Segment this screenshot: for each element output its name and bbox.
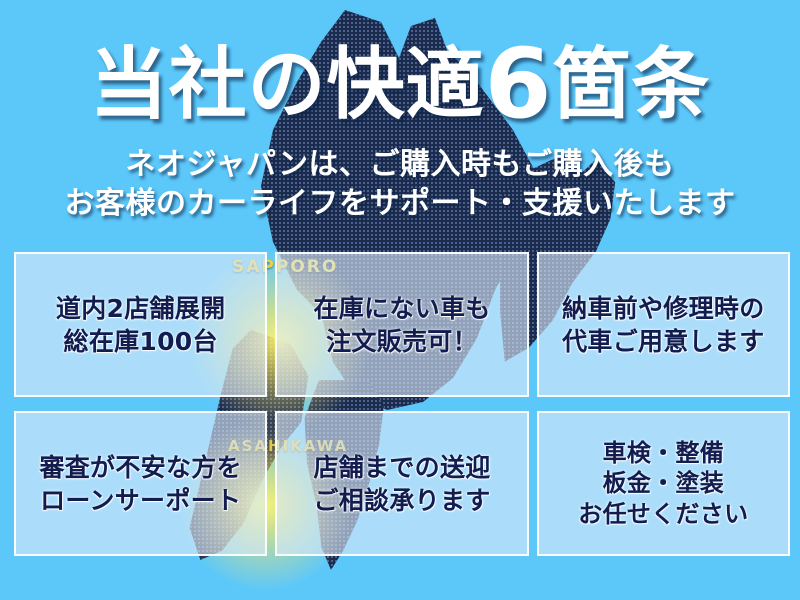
subtitle: ネオジャパンは、ご購入時もご購入後も お客様のカーライフをサポート・支援いたしま…: [0, 145, 800, 223]
feature-line: 店舗までの送迎: [313, 451, 490, 484]
title-suffix: 箇条: [552, 40, 710, 130]
subtitle-line-2: お客様のカーライフをサポート・支援いたします: [0, 184, 800, 223]
headline-block: 当社の快適6箇条 ネオジャパンは、ご購入時もご購入後も お客様のカーライフをサポ…: [0, 0, 800, 223]
title-prefix: 当社の快適: [90, 40, 485, 130]
title-number: 6: [485, 28, 553, 140]
subtitle-line-1: ネオジャパンは、ご購入時もご購入後も: [0, 145, 800, 184]
feature-line: お任せください: [578, 499, 748, 529]
feature-line: 道内2店舗展開: [56, 292, 226, 325]
feature-line: 審査が不安な方を: [39, 451, 241, 484]
promo-banner: SAPPORO ASAHIKAWA 当社の快適6箇条 ネオジャパンは、ご購入時も…: [0, 0, 800, 600]
feature-line: 総在庫100台: [64, 325, 218, 358]
feature-box-stores-stock: 道内2店舗展開 総在庫100台: [14, 252, 267, 397]
page-title: 当社の快適6箇条: [0, 34, 800, 135]
feature-box-loaner-car: 納車前や修理時の 代車ご用意します: [537, 252, 790, 397]
feature-line: 車検・整備: [603, 438, 725, 468]
feature-box-loan-support: 審査が不安な方を ローンサーポート: [14, 411, 267, 556]
feature-box-order-sales: 在庫にない車も 注文販売可！: [275, 252, 528, 397]
feature-grid: 道内2店舗展開 総在庫100台 在庫にない車も 注文販売可！ 納車前や修理時の …: [14, 252, 790, 556]
feature-line: ローンサーポート: [40, 484, 241, 517]
feature-line: 板金・塗装: [603, 468, 725, 498]
feature-box-pickup-service: 店舗までの送迎 ご相談承ります: [275, 411, 528, 556]
feature-box-inspection: 車検・整備 板金・塗装 お任せください: [537, 411, 790, 556]
feature-line: 代車ご用意します: [562, 325, 764, 358]
feature-line: 在庫にない車も: [313, 292, 490, 325]
feature-line: 注文販売可！: [326, 325, 478, 358]
feature-line: 納車前や修理時の: [562, 292, 764, 325]
feature-line: ご相談承ります: [313, 484, 490, 517]
